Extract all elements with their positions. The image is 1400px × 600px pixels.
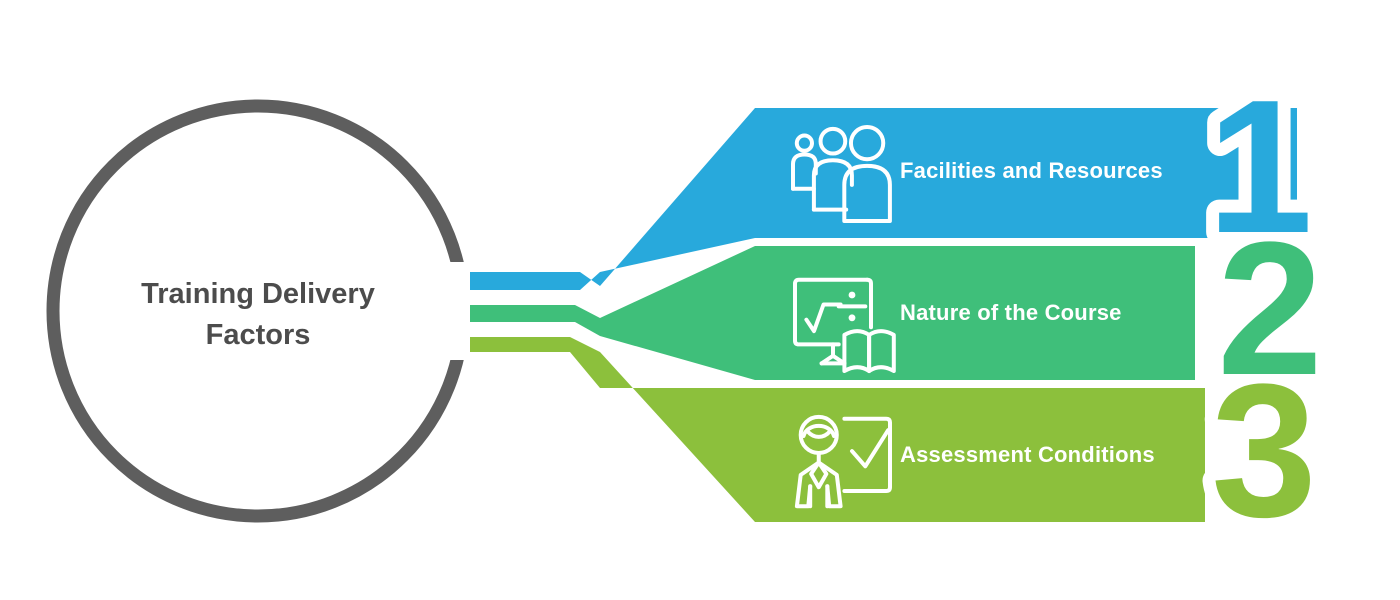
hub-title-line-2: Factors (206, 319, 311, 351)
band-label-3: Assessment Conditions (900, 442, 1155, 467)
hub-ring (53, 106, 463, 516)
infographic-canvas: 1 2 3 3 (0, 0, 1400, 600)
band-label-1: Facilities and Resources (900, 158, 1163, 183)
step-number-1: 1 (1207, 61, 1309, 273)
hub-circle[interactable]: Training Delivery Factors (53, 106, 463, 516)
hub-title-line-1: Training Delivery (141, 278, 375, 310)
band-label-2: Nature of the Course (900, 300, 1122, 325)
